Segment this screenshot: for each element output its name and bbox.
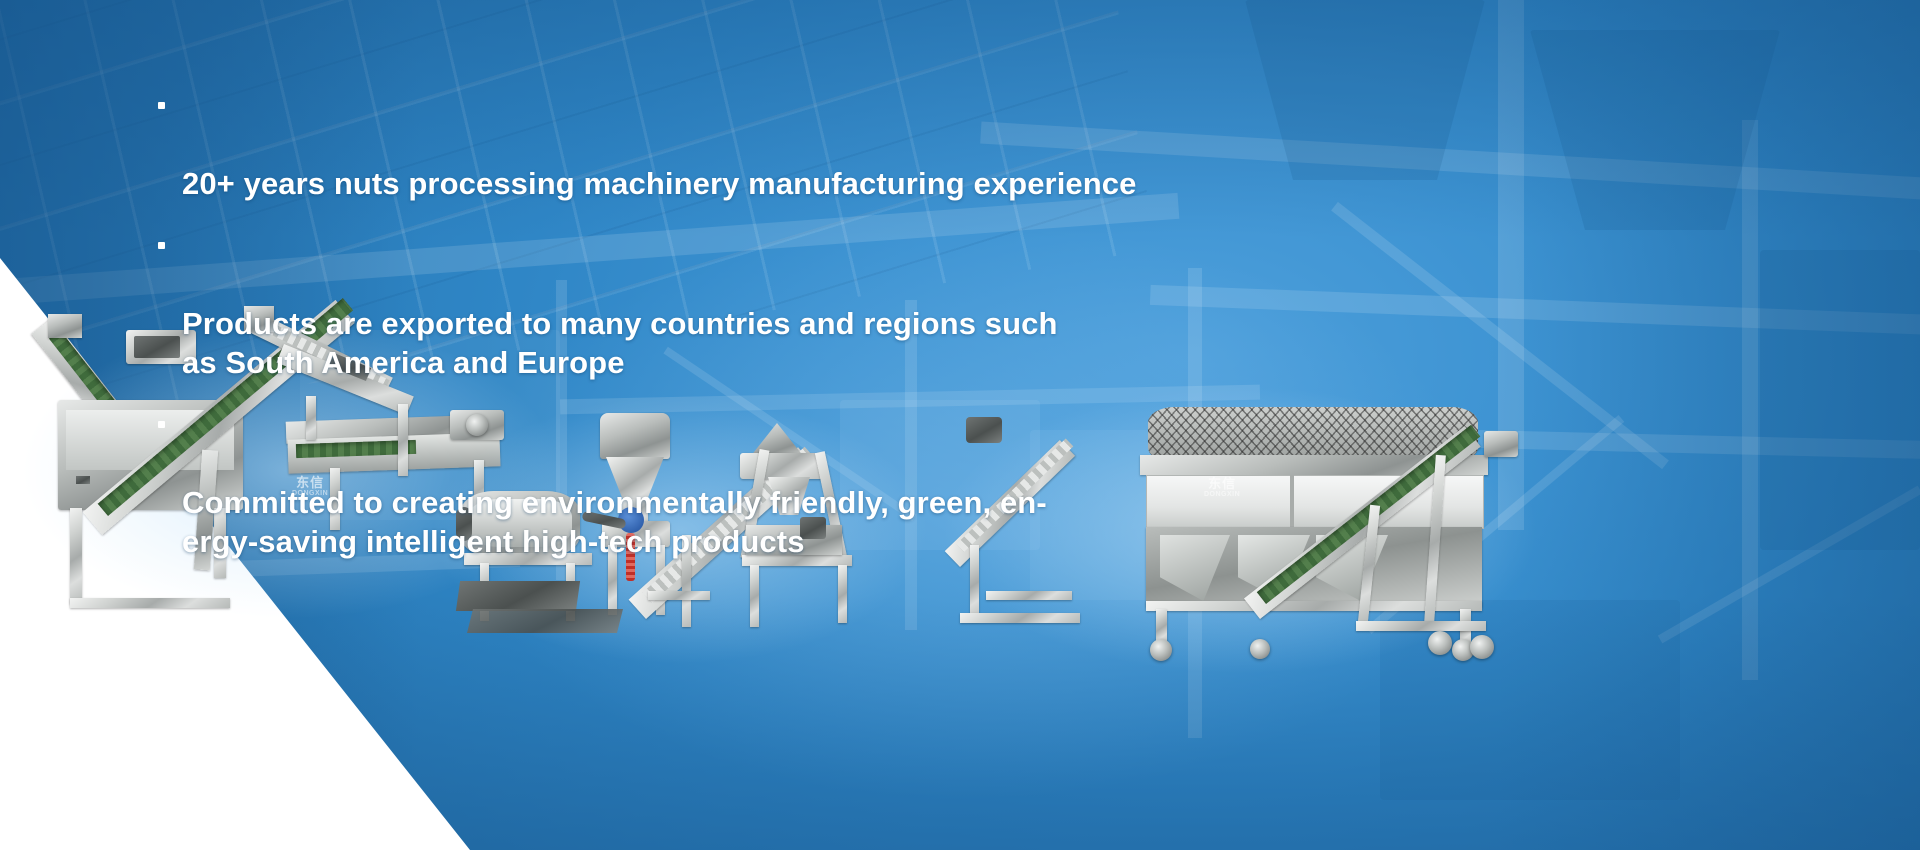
square-bullet-icon (158, 421, 165, 428)
square-bullet-icon (158, 102, 165, 109)
bullet-text-1: 20+ years nuts processing machinery manu… (182, 166, 1136, 201)
bullet-text-2: Products are exported to many countries … (182, 306, 1058, 380)
promo-banner: 东信 DONGXIN (0, 0, 1920, 850)
bullet-text-3: Committed to creating environmentally fr… (182, 485, 1047, 559)
bullet-item-2: Products are exported to many countries … (156, 226, 1276, 382)
bullet-item-1: 20+ years nuts processing machinery manu… (156, 86, 1276, 203)
square-bullet-icon (158, 242, 165, 249)
bullet-list: 20+ years nuts processing machinery manu… (156, 86, 1276, 584)
bullet-item-3: Committed to creating environmentally fr… (156, 405, 1276, 561)
